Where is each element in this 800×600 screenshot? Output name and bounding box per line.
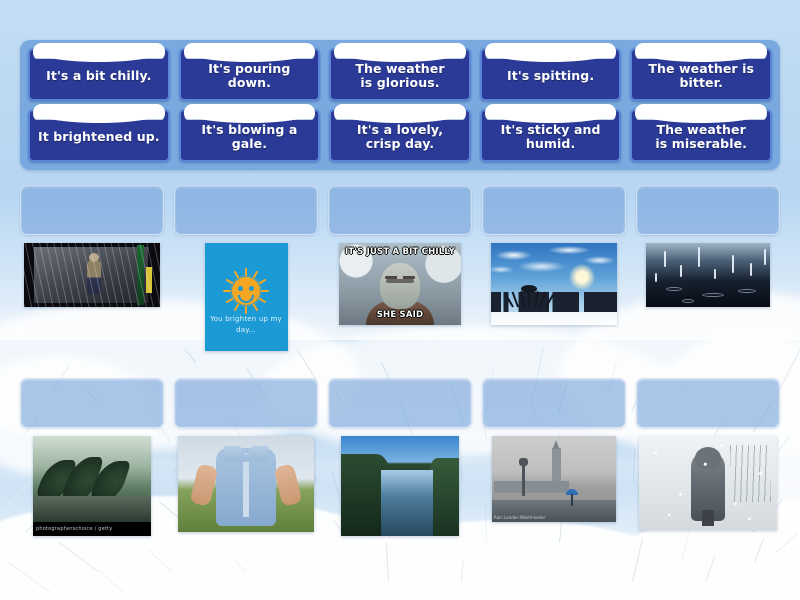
tile-chilly[interactable]: It's a bit chilly. xyxy=(28,48,170,101)
match-row-2: photographerschoice / getty xyxy=(20,378,780,546)
tile-label: It's spitting. xyxy=(507,69,594,83)
dropzone-10[interactable] xyxy=(636,378,780,428)
street-lamp xyxy=(522,464,525,496)
meme-bottom-text: SHE SAID xyxy=(339,310,461,320)
tile-label: It's a bit chilly. xyxy=(46,69,151,83)
meme-eyes xyxy=(385,276,415,279)
blue-umbrella xyxy=(566,489,578,495)
snow-cap-icon xyxy=(33,104,165,119)
dropzone-8[interactable] xyxy=(328,378,472,428)
sky-snow-ground xyxy=(491,312,617,325)
tile-label: The weather is miserable. xyxy=(655,123,747,152)
picture-crisp-canal[interactable] xyxy=(341,436,459,536)
tile-lovely[interactable]: It's a lovely, crisp day. xyxy=(329,109,471,162)
tile-brightened[interactable]: It brightened up. xyxy=(28,109,170,162)
tile-bitter[interactable]: The weather is bitter. xyxy=(630,48,772,101)
tile-label: It's blowing a gale. xyxy=(186,123,314,152)
tile-label: It's pouring down. xyxy=(186,62,314,91)
westminster-bridge xyxy=(494,481,568,493)
meme-top-text: IT'S JUST A BIT CHILLY xyxy=(339,247,461,257)
word-tile-tray: It's a bit chilly.It's pouring down.The … xyxy=(20,40,780,170)
tile-label: It's a lovely, crisp day. xyxy=(357,123,443,152)
picture-rainy-london[interactable]: Rain London Westminster xyxy=(492,436,616,522)
snow-cap-icon xyxy=(334,104,466,119)
dropzone-2[interactable] xyxy=(174,185,318,235)
tile-label: It's sticky and humid. xyxy=(487,123,615,152)
snow-cap-icon xyxy=(184,104,316,119)
snow-cap-icon xyxy=(485,104,617,119)
picture-rain-splash[interactable] xyxy=(646,243,770,307)
tile-label: The weather is glorious. xyxy=(355,62,444,91)
london-watermark: Rain London Westminster xyxy=(494,515,545,520)
snow-cap-icon xyxy=(635,43,767,58)
tile-humid[interactable]: It's sticky and humid. xyxy=(480,109,622,162)
snow-cap-icon xyxy=(485,43,617,58)
picture-sun-card[interactable]: You brighten up my day... xyxy=(205,243,288,351)
snow-cap-icon xyxy=(635,104,767,119)
splash-droplets xyxy=(646,243,770,307)
dropzone-6[interactable] xyxy=(20,378,164,428)
dropzone-3[interactable] xyxy=(328,185,472,235)
meme-face xyxy=(380,263,420,309)
dropzone-9[interactable] xyxy=(482,378,626,428)
dropzone-4[interactable] xyxy=(482,185,626,235)
tile-label: It brightened up. xyxy=(38,130,160,144)
gale-watermark: photographerschoice / getty xyxy=(33,522,151,536)
word-tile-grid: It's a bit chilly.It's pouring down.The … xyxy=(28,48,772,162)
shirt-placket xyxy=(243,453,249,517)
sun-card-caption: You brighten up my day... xyxy=(205,314,288,335)
picture-pouring-rain[interactable] xyxy=(24,243,160,307)
gale-scene xyxy=(33,436,151,522)
dropzone-row-2 xyxy=(20,378,780,428)
dropzone-row-1 xyxy=(20,185,780,235)
snow-cap-icon xyxy=(334,43,466,58)
picture-humid-shirt[interactable] xyxy=(178,436,314,532)
spider-sculpture xyxy=(509,285,549,307)
picture-row-1: You brighten up my day... IT'S JUST A BI… xyxy=(20,243,780,353)
blizzard-snowfall xyxy=(639,436,777,530)
activity-stage: It's a bit chilly.It's pouring down.The … xyxy=(0,0,800,600)
tile-pouring[interactable]: It's pouring down. xyxy=(179,48,321,101)
dropzone-1[interactable] xyxy=(20,185,164,235)
picture-glorious-sky[interactable] xyxy=(491,243,617,325)
dropzone-7[interactable] xyxy=(174,378,318,428)
picture-blizzard[interactable] xyxy=(639,436,777,530)
rain-streaks xyxy=(24,243,160,307)
match-row-1: You brighten up my day... IT'S JUST A BI… xyxy=(20,185,780,353)
picture-row-2: photographerschoice / getty xyxy=(20,436,780,546)
tile-spitting[interactable]: It's spitting. xyxy=(480,48,622,101)
picture-chilly-meme[interactable]: IT'S JUST A BIT CHILLY SHE SAID xyxy=(339,243,461,325)
snow-cap-icon xyxy=(184,43,316,58)
tile-glorious[interactable]: The weather is glorious. xyxy=(329,48,471,101)
gale-road xyxy=(33,496,151,522)
tile-miserable[interactable]: The weather is miserable. xyxy=(630,109,772,162)
tile-label: The weather is bitter. xyxy=(637,62,765,91)
canal-water xyxy=(381,470,433,536)
dropzone-5[interactable] xyxy=(636,185,780,235)
snow-cap-icon xyxy=(33,43,165,58)
tile-gale[interactable]: It's blowing a gale. xyxy=(179,109,321,162)
picture-gale-trees[interactable]: photographerschoice / getty xyxy=(33,436,151,536)
